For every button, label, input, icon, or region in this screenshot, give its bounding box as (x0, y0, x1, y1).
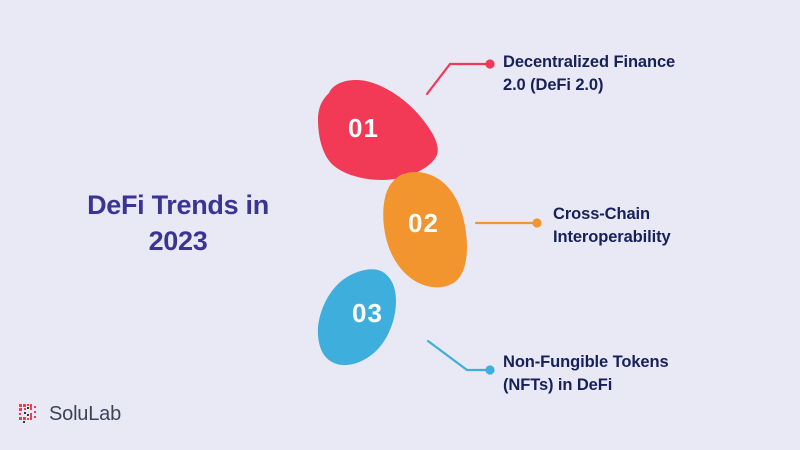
segment-label-01: Decentralized Finance 2.0 (DeFi 2.0) (503, 51, 743, 97)
segment-label-03: Non-Fungible Tokens (NFTs) in DeFi (503, 351, 743, 397)
connector-dot-01 (485, 59, 494, 68)
connector-line-03 (428, 341, 487, 370)
brand-name: SoluLab (49, 404, 121, 424)
segment-label-03-line-1: Non-Fungible Tokens (503, 351, 743, 374)
segment-shape-01[interactable] (318, 80, 438, 180)
brand-logo: SoluLab (18, 403, 121, 425)
segment-label-03-line-2: (NFTs) in DeFi (503, 374, 743, 397)
connector-dot-02 (532, 218, 541, 227)
segment-label-01-line-2: 2.0 (DeFi 2.0) (503, 74, 743, 97)
solulab-logo-mark-icon (18, 403, 40, 425)
segment-label-02-line-1: Cross-Chain (553, 203, 783, 226)
segment-label-02: Cross-Chain Interoperability (553, 203, 783, 249)
segment-label-01-line-1: Decentralized Finance (503, 51, 743, 74)
segment-shape-02[interactable] (383, 172, 467, 287)
segment-shape-03[interactable] (318, 269, 396, 365)
infographic-canvas: DeFi Trends in 2023 01 02 03 Decentraliz… (0, 0, 800, 450)
connector-dot-03 (485, 365, 494, 374)
connector-line-01 (427, 64, 487, 94)
segment-label-02-line-2: Interoperability (553, 226, 783, 249)
